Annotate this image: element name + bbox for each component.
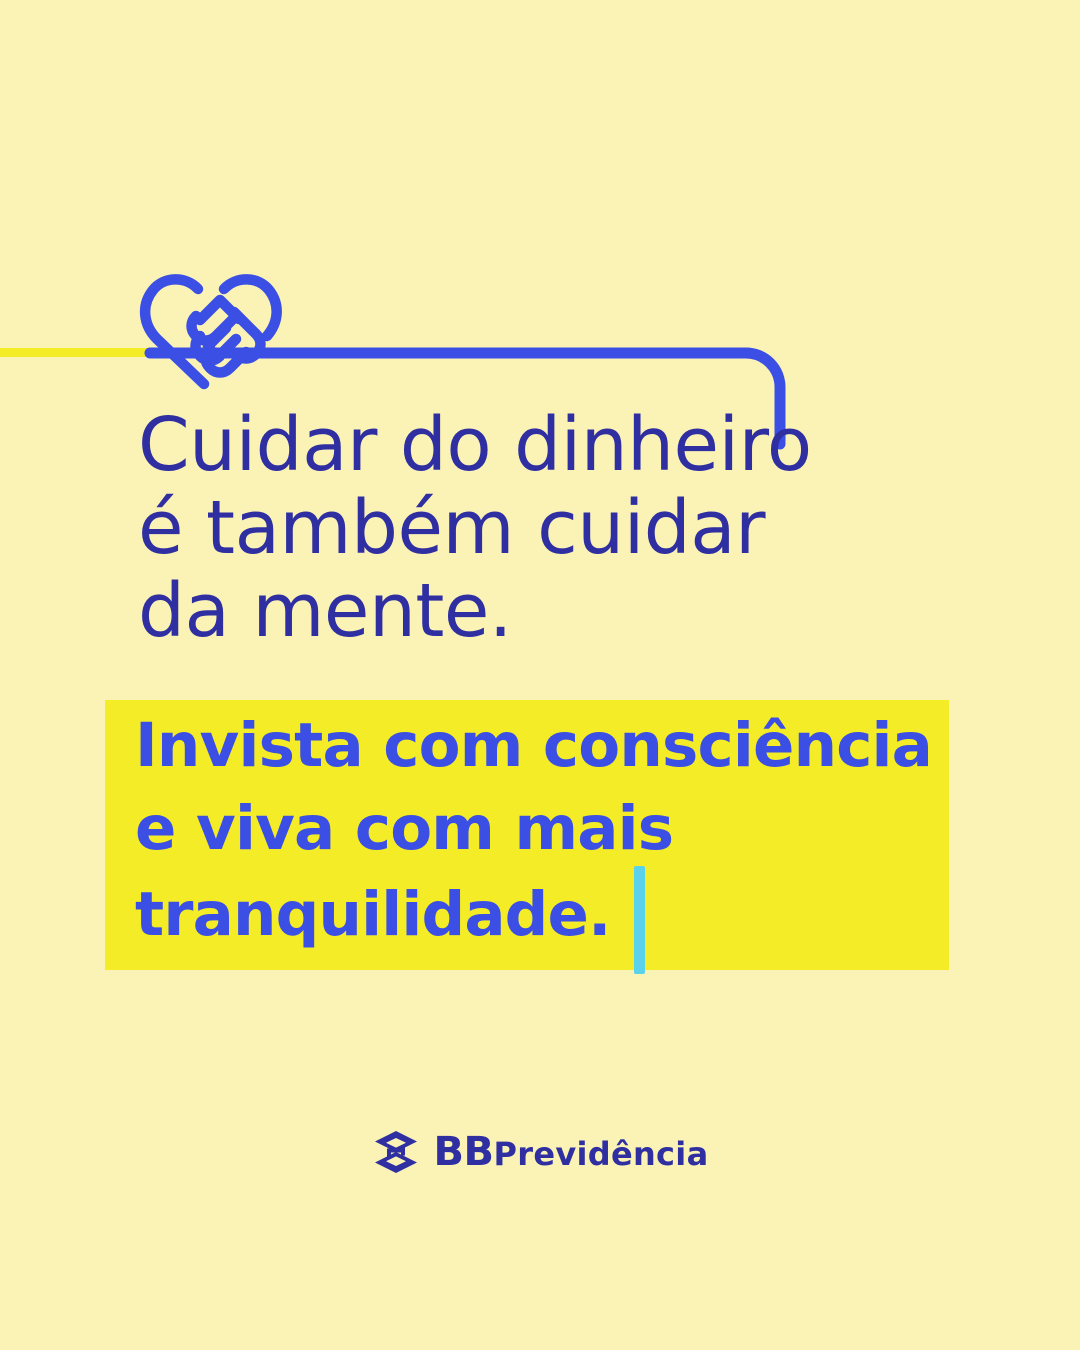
subheadline-line-1: Invista com consciência [105,700,949,786]
headline-line-1: Cuidar do dinheiro [138,404,838,487]
heart-handshake-icon [138,250,284,390]
subheadline: Invista com consciência e viva com mais … [105,700,949,970]
brand-name-previdencia: Previdência [493,1135,708,1173]
brand-name: BBPrevidência [434,1132,709,1172]
headline-line-3: da mente. [138,570,838,653]
cyan-accent-bar [634,866,645,974]
subheadline-line-3: tranquilidade. [105,872,949,970]
bb-logo-mark-icon [372,1128,420,1176]
brand-name-bb: BB [434,1129,494,1175]
headline: Cuidar do dinheiro é também cuidar da me… [138,404,838,653]
headline-line-2: é também cuidar [138,487,838,570]
subheadline-line-2: e viva com mais [105,786,949,872]
brand-lockup: BBPrevidência [0,1128,1080,1176]
poster-canvas: Cuidar do dinheiro é também cuidar da me… [0,0,1080,1350]
